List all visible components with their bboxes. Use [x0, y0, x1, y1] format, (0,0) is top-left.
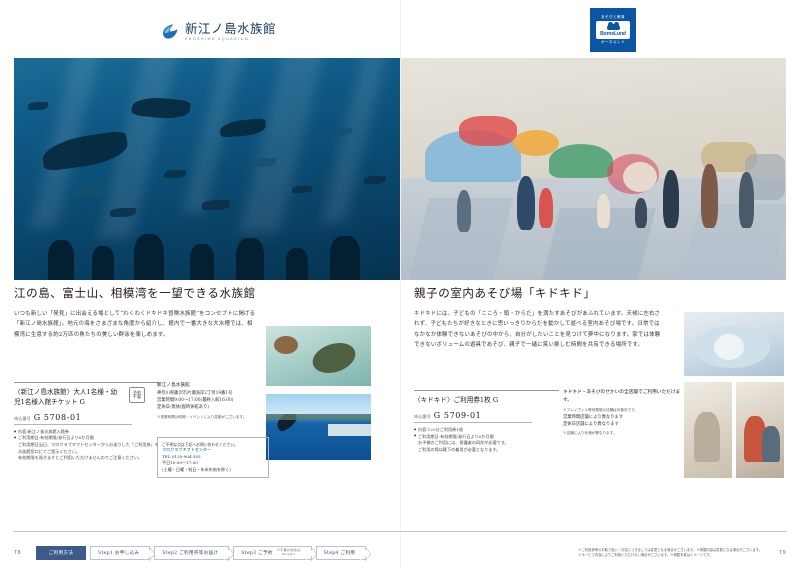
logo-text-japanese: 新江ノ島水族館	[185, 23, 276, 36]
store-lead: キドキド・あそびのせかいの全店舗でご利用いただけます。	[563, 389, 681, 405]
indoor-playground-photo	[401, 58, 786, 280]
venue-holiday: 定休日:無休(臨時休館あり)	[157, 404, 269, 411]
page-number-right: T9	[779, 550, 786, 556]
venue-hours: 営業時間9:00〜17:00(最終入館16:00)	[157, 397, 269, 404]
right-ticket-notes: 内容:120分ご利用券1枚 ご利用期日:有効期限/発行日より6か月間 お子様のご…	[414, 427, 559, 454]
right-note: お子様のご利用には、保護者の同伴が必要です。	[414, 440, 559, 447]
badge-top-text: あそびと教育	[601, 15, 625, 20]
aquarium-logo: 新江ノ島水族館 ENOSHIMA AQUARIUM	[160, 22, 276, 42]
right-headline: 親子の室内あそび場「キドキド」	[414, 286, 786, 301]
page-footer: T8 ご利用方法 Step1 お申し込み Step2 ご利用券等お届け Step…	[0, 532, 800, 568]
left-code-value: G 5708-01	[34, 413, 82, 422]
venue-name: 新江ノ島水族館	[157, 382, 269, 390]
contact-box: ご不明な点は下記へお問い合わせください。 マロクラブギフトセンター TEL:01…	[157, 437, 269, 478]
step-label: Step2 ご利用券等お届け	[162, 550, 218, 556]
right-note: ご利用の際は靴下の着用が必要となります。	[414, 447, 559, 454]
step-tab-usage-method[interactable]: ご利用方法	[36, 546, 86, 560]
left-ticket-title: 〈新江ノ島水族館〉大人1名様・幼児1名様入館チケット G	[14, 388, 118, 408]
step-label: Step3 ご予約	[241, 550, 273, 556]
venue-address: 神奈川県藤沢市片瀬海岸2丁目19番1号	[157, 390, 269, 397]
left-note: ご利用期日当日、マロクラブギフトセンターからお送りした「ご利用券」を水族館窓口に…	[14, 442, 159, 455]
venue-info-box: 新江ノ島水族館 神奈川県藤沢市片瀬海岸2丁目19番1号 営業時間9:00〜17:…	[157, 382, 269, 420]
right-note: 内容:120分ご利用券1枚	[414, 427, 559, 434]
bornelund-badge: あそびと教育 BorneLund ボーネルンド	[590, 8, 636, 52]
footer-disclaimer: ※ご利用券等のお取り扱い・内容につきましては変更となる場合がございます。※掲載内…	[578, 548, 762, 558]
contact-closed: (土曜・日曜・祝日・年末年始を除く)	[162, 467, 264, 474]
cloud-icon	[607, 24, 620, 30]
step-tab-2-delivery[interactable]: Step2 ご利用券等お届け	[154, 546, 229, 560]
play-structure-photo	[684, 382, 732, 478]
page-number-left: T8	[14, 550, 21, 556]
left-ticket-box: 〈新江ノ島水族館〉大人1名様・幼児1名様入館チケット G 予約 不要 申込番号 …	[14, 382, 159, 462]
step-label: ご利用方法	[49, 550, 73, 556]
right-body-text: キドキドには、子どもの「こころ・頭・からだ」を満たすあそびがあふれています。天候…	[414, 309, 664, 351]
bornelund-wordmark: BorneLund	[600, 31, 626, 37]
left-ticket-notes: 内容:新江ノ島水族館入館券 ご利用期日:有効期限/発行日より6か月間 ご利用期日…	[14, 429, 159, 462]
water-drop-icon	[160, 22, 180, 42]
dolphin-show-photo	[266, 394, 371, 460]
step-3-subnote: ※不要の場合は Step4へ	[277, 549, 301, 556]
badge-bottom-text: ボーネルンド	[601, 40, 625, 45]
step-tab-4-use[interactable]: Step4 ご利用	[316, 546, 367, 560]
store-hours: 営業時間店舗により異なります	[563, 414, 681, 421]
sea-turtle-photo	[266, 326, 371, 386]
ball-pool-photo	[684, 312, 784, 376]
store-closed: 定休日店舗により異なります	[563, 421, 681, 428]
logo-text-english: ENOSHIMA AQUARIUM	[185, 37, 276, 41]
left-body-text: いつも新しい「発見」に出会える場として“わくわくドキドキ冒険水族館”をコンセプト…	[14, 309, 257, 340]
step-tab-3-reservation[interactable]: Step3 ご予約 ※不要の場合は Step4へ	[233, 546, 311, 560]
store-info-box: キドキド・あそびのせかいの全店舗でご利用いただけます。 ※プレイヴィル等他業態の…	[563, 389, 681, 437]
right-ticket-title: 〈キドキド〉ご利用券1枚 G	[414, 396, 518, 406]
bornelund-logo: BorneLund	[596, 21, 630, 39]
left-headline: 江の島、富士山、相模湾を一望できる水族館	[14, 286, 404, 301]
step-navigation: ご利用方法 Step1 お申し込み Step2 ご利用券等お届け Step3 ご…	[36, 546, 366, 560]
right-code-label: 申込番号	[414, 414, 431, 420]
chevron-right-icon	[365, 547, 371, 561]
left-note: 有効期限を過ぎますとご利用いただけませんのでご注意ください。	[14, 455, 159, 462]
kids-playing-photo	[736, 382, 784, 478]
left-code-row: 申込番号 G 5708-01	[14, 413, 132, 425]
catalog-spread: 新江ノ島水族館 ENOSHIMA AQUARIUM あそびと教育 BorneLu…	[0, 0, 800, 568]
right-ticket-box: 〈キドキド〉ご利用券1枚 G 申込番号 G 5709-01 内容:120分ご利用…	[414, 390, 559, 453]
step-label: Step1 お申し込み	[98, 550, 139, 556]
step-label: Step4 ご利用	[324, 550, 356, 556]
step-tab-1-apply[interactable]: Step1 お申し込み	[90, 546, 150, 560]
store-extra: ※店舗により仕様が異なります。	[563, 431, 681, 437]
page-gutter	[400, 0, 401, 568]
no-reservation-badge: 予約 不要	[129, 387, 145, 403]
right-code-value: G 5709-01	[434, 411, 482, 420]
aquarium-tank-photo	[14, 58, 401, 280]
left-code-label: 申込番号	[14, 416, 31, 422]
badge-line-2: 不要	[133, 395, 141, 399]
right-code-row: 申込番号 G 5709-01	[414, 411, 532, 423]
venue-note: ※営業時間は時期・イベントにより変動がございます。	[157, 415, 269, 421]
